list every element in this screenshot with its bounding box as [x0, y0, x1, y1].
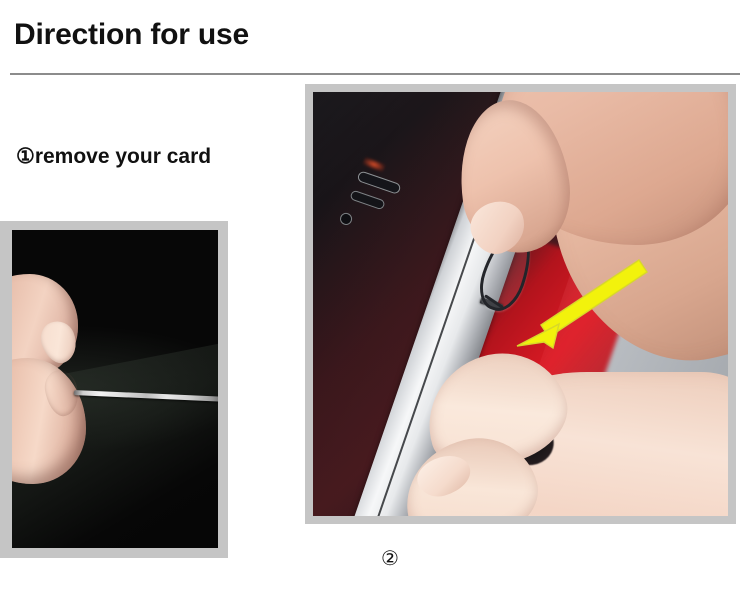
step-2-caption: ②: [0, 546, 750, 572]
page-title: Direction for use: [14, 16, 249, 54]
arrow-head: [517, 324, 559, 348]
title-divider: [10, 73, 740, 75]
inserting-pin-into-sim-tray-photo: [305, 84, 736, 524]
annotation-arrow-group: [313, 92, 728, 516]
sim-ejector-pin-in-fingers-photo: [0, 221, 228, 558]
direction-for-use-page: Direction for use ①remove your card: [0, 0, 750, 592]
photo-left-inner: [12, 230, 218, 548]
step-1-caption: ①remove your card: [16, 143, 211, 171]
yellow-arrow-icon: [517, 260, 647, 348]
photo-right-inner: [313, 92, 728, 516]
step-2-marker: ②: [381, 548, 399, 570]
